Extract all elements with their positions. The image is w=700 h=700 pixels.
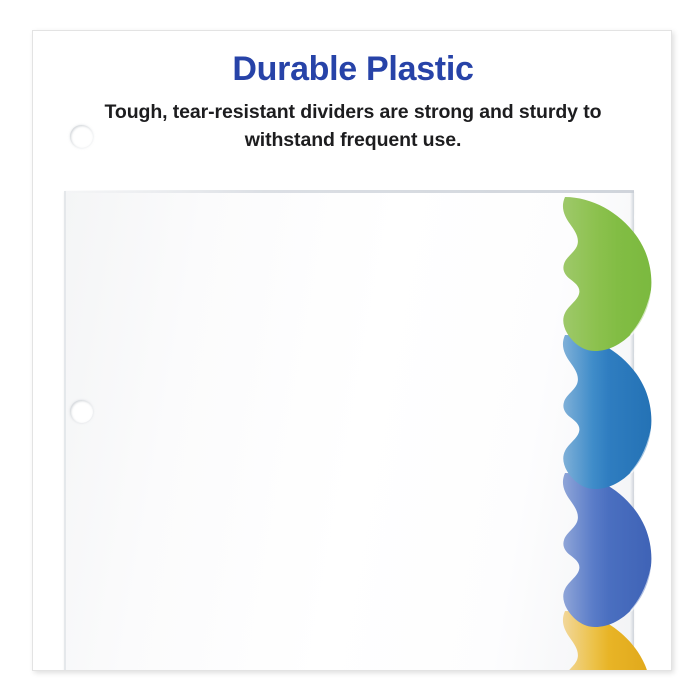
page-title: Durable Plastic [33, 51, 672, 88]
bottom-punch-hole [70, 400, 93, 423]
top-punch-hole [70, 125, 93, 148]
product-image-stage: Durable Plastic Tough, tear-resistant di… [0, 0, 700, 700]
divider-sheet [64, 191, 634, 671]
divider-sheet-left-edge [64, 191, 66, 671]
tab-blue-light [553, 331, 659, 491]
product-photo-frame: Durable Plastic Tough, tear-resistant di… [32, 30, 672, 671]
divider-sheet-top-edge [64, 190, 634, 193]
tab-green [553, 193, 659, 353]
tab-blue-royal [553, 469, 659, 629]
page-subtitle: Tough, tear-resistant dividers are stron… [61, 99, 645, 154]
